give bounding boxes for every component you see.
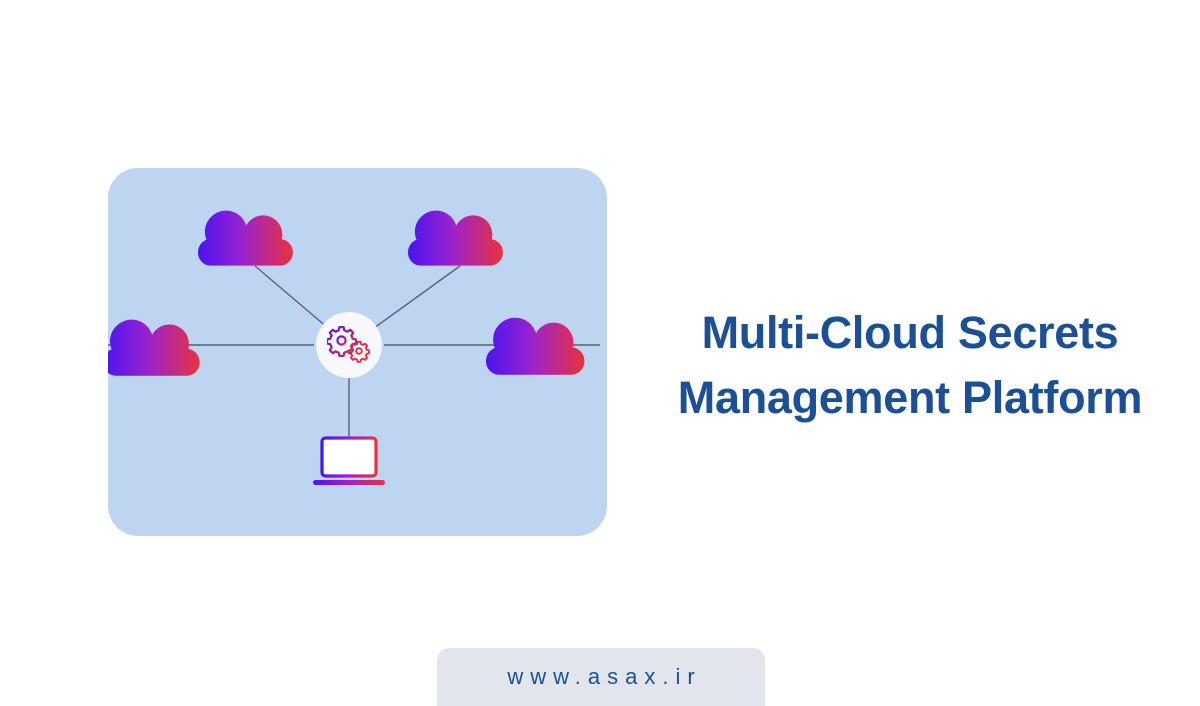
cloud-right: [486, 311, 596, 380]
page-title-line-1: Multi-Cloud Secrets: [630, 300, 1190, 365]
cloud-icon: [408, 204, 514, 266]
footer-url-chip: www.asax.ir: [437, 648, 765, 706]
cloud-top-left: [198, 204, 304, 271]
cloud-top-right: [408, 204, 514, 271]
cloud-icon: [108, 313, 211, 376]
laptop-screen: [322, 438, 376, 476]
hub-circle: [316, 312, 382, 378]
illustration-panel: [108, 168, 607, 536]
page-title-line-2: Management Platform: [630, 365, 1190, 430]
cloud-left: [108, 313, 211, 381]
page-title: Multi-Cloud Secrets Management Platform: [630, 300, 1190, 431]
cloud-icon: [198, 204, 304, 266]
connector-top-right: [374, 266, 460, 328]
gears-icon: [327, 325, 371, 365]
laptop-icon: [311, 436, 387, 490]
laptop-base: [313, 480, 385, 485]
footer-url-text: www.asax.ir: [500, 664, 701, 690]
cloud-icon: [486, 311, 596, 375]
connector-top-left: [255, 266, 328, 328]
laptop-client: [311, 436, 387, 490]
gear-large-icon: [327, 327, 356, 356]
